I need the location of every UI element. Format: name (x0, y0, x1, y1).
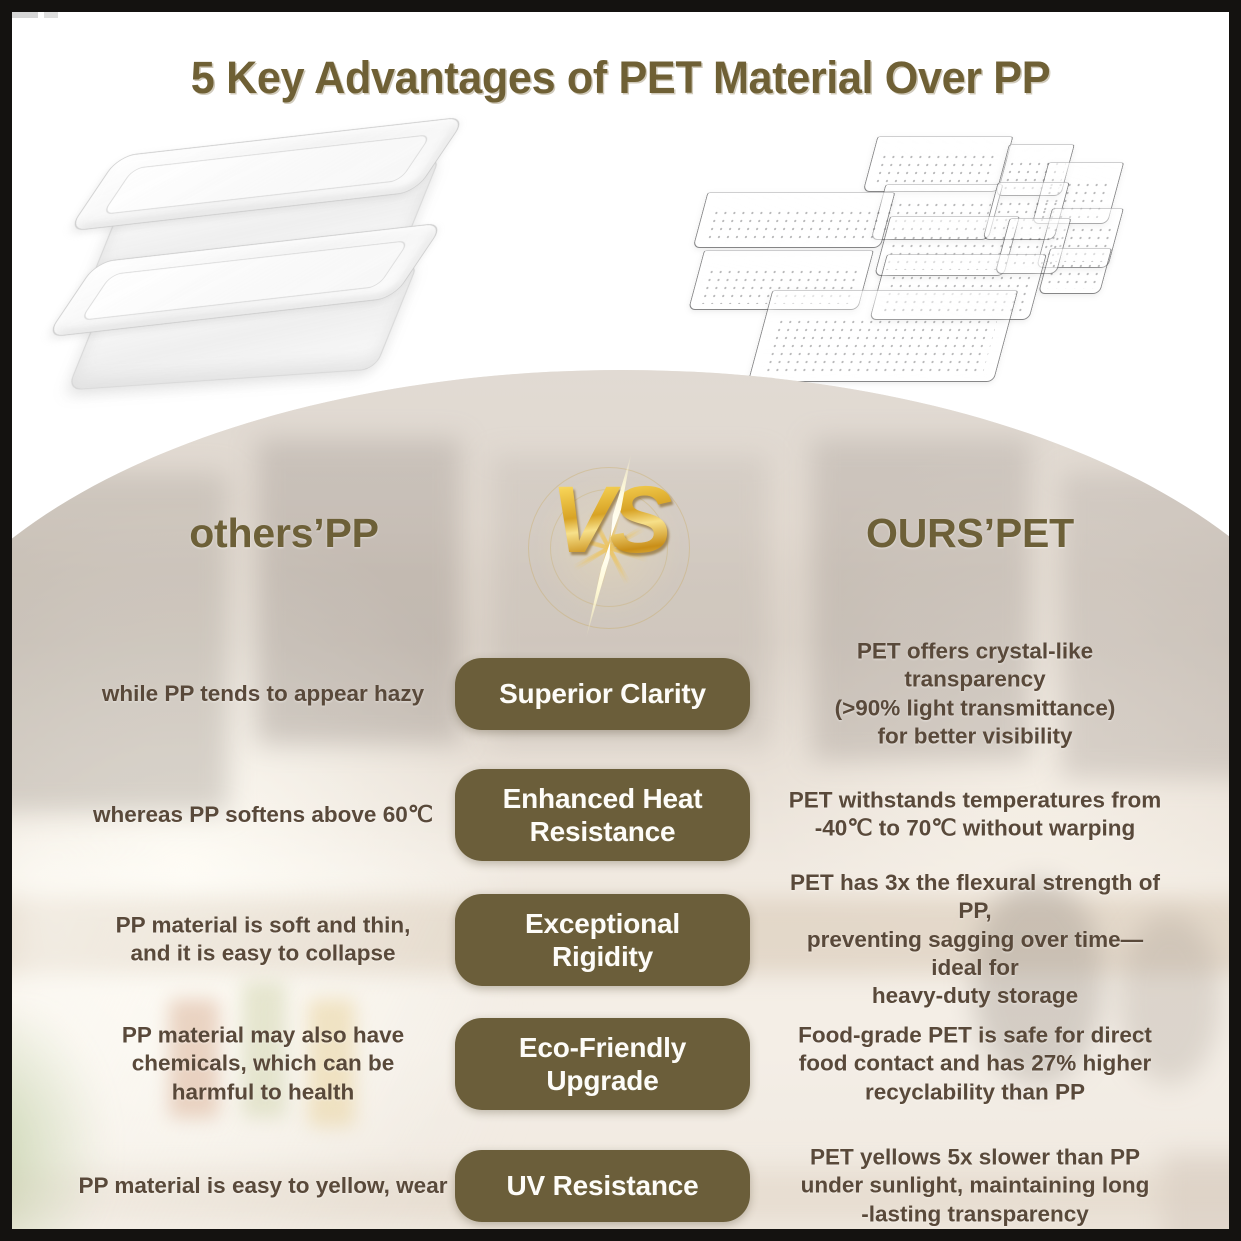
feature-badge[interactable]: ExceptionalRigidity (455, 894, 750, 986)
feature-badge[interactable]: Enhanced HeatResistance (455, 769, 750, 861)
feature-row: PP material may also havechemicals, whic… (12, 1018, 1229, 1110)
infographic-frame: 5 Key Advantages of PET Material Over PP (0, 0, 1241, 1241)
pet-benefit-text: PET withstands temperatures from-40℃ to … (784, 787, 1166, 844)
pet-benefit-text: PET offers crystal-like transparency(>90… (784, 637, 1166, 750)
pet-benefit-text: PET yellows 5x slower than PPunder sunli… (784, 1143, 1166, 1228)
pet-benefit-text: PET has 3x the flexural strength of PP,p… (784, 869, 1166, 1011)
feature-badge[interactable]: UV Resistance (455, 1150, 750, 1222)
feature-badge[interactable]: Superior Clarity (455, 658, 750, 730)
infographic-canvas: 5 Key Advantages of PET Material Over PP (12, 12, 1229, 1229)
feature-row: PP material is soft and thin,and it is e… (12, 894, 1229, 986)
pp-drawback-text: while PP tends to appear hazy (74, 680, 452, 708)
pp-drawback-text: PP material may also havechemicals, whic… (74, 1021, 452, 1106)
pp-drawback-text: PP material is soft and thin,and it is e… (74, 912, 452, 969)
feature-badge[interactable]: Eco-FriendlyUpgrade (455, 1018, 750, 1110)
column-header-ours-pet: OURS’PET (840, 510, 1100, 557)
pp-drawback-text: whereas PP softens above 60℃ (74, 801, 452, 829)
comparison-content: others’PP OURS’PET VS wh (12, 12, 1229, 1229)
pet-benefit-text: Food-grade PET is safe for directfood co… (784, 1021, 1166, 1106)
feature-row: whereas PP softens above 60℃Enhanced Hea… (12, 769, 1229, 861)
pp-drawback-text: PP material is easy to yellow, wear (74, 1172, 452, 1200)
feature-row: PP material is easy to yellow, wearUV Re… (12, 1140, 1229, 1229)
column-header-others-pp: others’PP (154, 510, 414, 557)
feature-row: while PP tends to appear hazySuperior Cl… (12, 648, 1229, 740)
vs-badge: VS (509, 455, 709, 640)
